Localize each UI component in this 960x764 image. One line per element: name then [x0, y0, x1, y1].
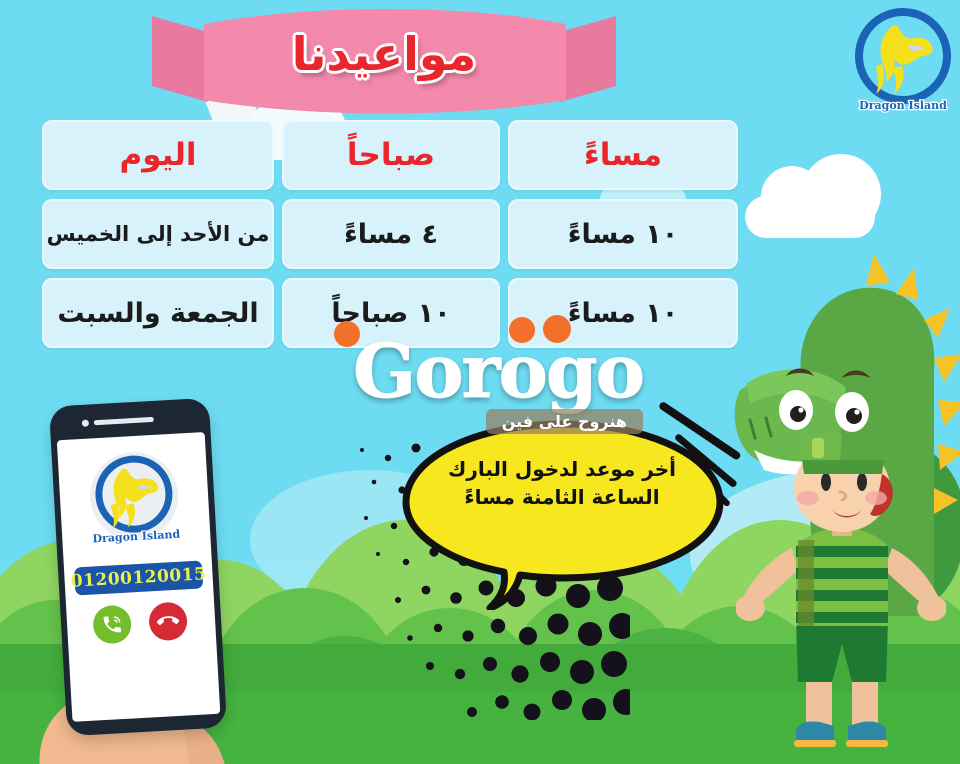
call-decline-button[interactable]: [148, 601, 188, 641]
header-cell-evening: مساءً: [508, 120, 738, 190]
cell-evening-row-1: ١٠ مساءً: [508, 199, 738, 269]
phone-hangup-icon: [156, 610, 179, 633]
value-evening-row-1: ١٠ مساءً: [568, 219, 679, 250]
table-row: ١٠ مساءً ٤ مساءً من الأحد إلى الخميس: [38, 199, 738, 269]
value-day-row-1: من الأحد إلى الخميس: [47, 222, 270, 246]
cell-day-row-1: من الأحد إلى الخميس: [42, 199, 274, 269]
table-row: ١٠ مساءً ١٠ صباحاً الجمعة والسبت: [38, 278, 738, 348]
phone-mockup: Dragon Island 01200120015: [49, 398, 227, 736]
boy-character: [736, 430, 946, 764]
value-evening-row-2: ١٠ مساءً: [568, 298, 679, 329]
value-morning-row-1: ٤ مساءً: [344, 219, 438, 250]
header-cell-morning: صباحاً: [282, 120, 500, 190]
header-label-morning: صباحاً: [347, 137, 435, 173]
call-accept-button[interactable]: [92, 605, 132, 645]
poster-canvas: أخر موعد لدخول البارك الساعة الثامنة مسا…: [0, 0, 960, 764]
phone-logo-caption: Dragon Island: [92, 528, 181, 546]
table-header-row: مساءً صباحاً اليوم: [38, 120, 738, 190]
phone-number[interactable]: 01200120015: [74, 560, 203, 595]
value-morning-row-2: ١٠ صباحاً: [331, 298, 450, 329]
phone-screen: Dragon Island 01200120015: [57, 432, 221, 722]
title-ribbon: مواعيدنا: [152, 6, 616, 114]
notice-speech-bubble: أخر موعد لدخول البارك الساعة الثامنة مسا…: [398, 420, 728, 610]
speech-bubble-shape: [398, 420, 728, 610]
phone-dragon-island-logo: Dragon Island: [79, 445, 189, 555]
value-day-row-2: الجمعة والسبت: [57, 298, 258, 329]
cell-evening-row-2: ١٠ مساءً: [508, 278, 738, 348]
phone-call-icon: [101, 613, 124, 636]
ribbon-shape: [152, 6, 616, 114]
cell-morning-row-2: ١٠ صباحاً: [282, 278, 500, 348]
phone-speaker: [94, 417, 154, 425]
dragon-island-logo: Dragon Island: [852, 6, 954, 116]
header-cell-day: اليوم: [42, 120, 274, 190]
logo-caption: Dragon Island: [859, 99, 947, 112]
header-label-day: اليوم: [119, 137, 196, 173]
header-label-evening: مساءً: [584, 137, 662, 173]
schedule-table: مساءً صباحاً اليوم ١٠ مساءً ٤ مساءً من ا…: [38, 120, 738, 357]
cell-morning-row-1: ٤ مساءً: [282, 199, 500, 269]
cell-day-row-2: الجمعة والسبت: [42, 278, 274, 348]
phone-camera-icon: [82, 420, 89, 427]
